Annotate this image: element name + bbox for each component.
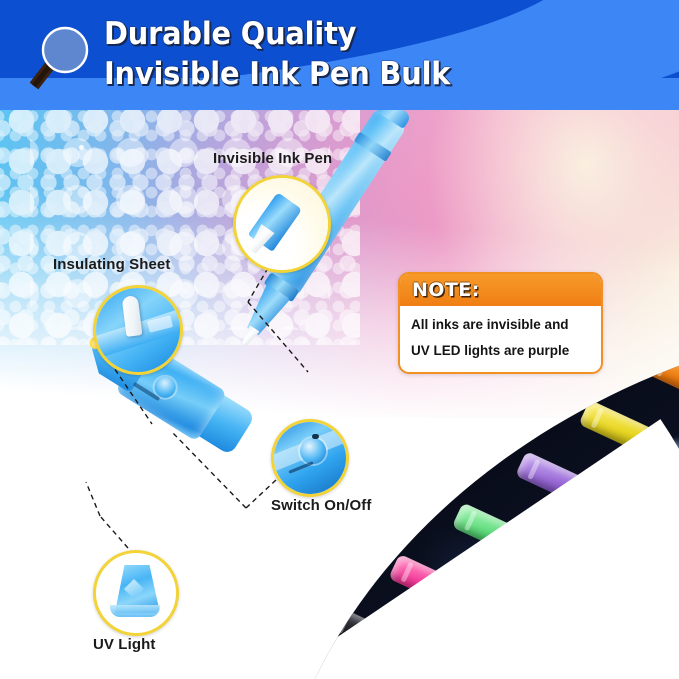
callout-label-invisible-ink-pen: Invisible Ink Pen bbox=[213, 150, 332, 167]
note-header-bar: NOTE: bbox=[400, 274, 601, 306]
callout-label-insulating-sheet: Insulating Sheet bbox=[53, 256, 170, 273]
callout-label-switch-on-off: Switch On/Off bbox=[271, 497, 371, 514]
callout-invisible-ink-pen bbox=[233, 175, 331, 273]
note-line-2: UV LED lights are purple bbox=[411, 338, 601, 364]
header-bottom-wave-2 bbox=[0, 92, 360, 110]
magnifying-glass-icon bbox=[28, 20, 100, 94]
header-title-line-1: Durable Quality bbox=[104, 14, 606, 54]
callout-detail-pen-tip bbox=[236, 178, 328, 270]
callout-detail-switch-button bbox=[274, 422, 346, 494]
note-body: All inks are invisible and UV LED lights… bbox=[400, 306, 601, 364]
callout-detail-uv-led-head bbox=[96, 553, 176, 633]
callout-insulating-sheet bbox=[93, 285, 183, 375]
product-infographic: Invisible Ink Pen Insulating Sheet Switc… bbox=[0, 0, 679, 679]
callout-detail-insulating-tab bbox=[96, 288, 180, 372]
callout-label-uv-light: UV Light bbox=[93, 636, 155, 653]
callout-uv-light bbox=[93, 550, 179, 636]
note-heading: NOTE: bbox=[412, 279, 480, 301]
header-title-line-2: Invisible Ink Pen Bulk bbox=[104, 54, 606, 94]
header-banner: Durable Quality Invisible Ink Pen Bulk bbox=[0, 0, 679, 110]
callout-switch-on-off bbox=[271, 419, 349, 497]
note-box: NOTE: All inks are invisible and UV LED … bbox=[398, 272, 603, 374]
note-line-1: All inks are invisible and bbox=[411, 312, 601, 338]
header-title: Durable Quality Invisible Ink Pen Bulk bbox=[104, 14, 644, 94]
